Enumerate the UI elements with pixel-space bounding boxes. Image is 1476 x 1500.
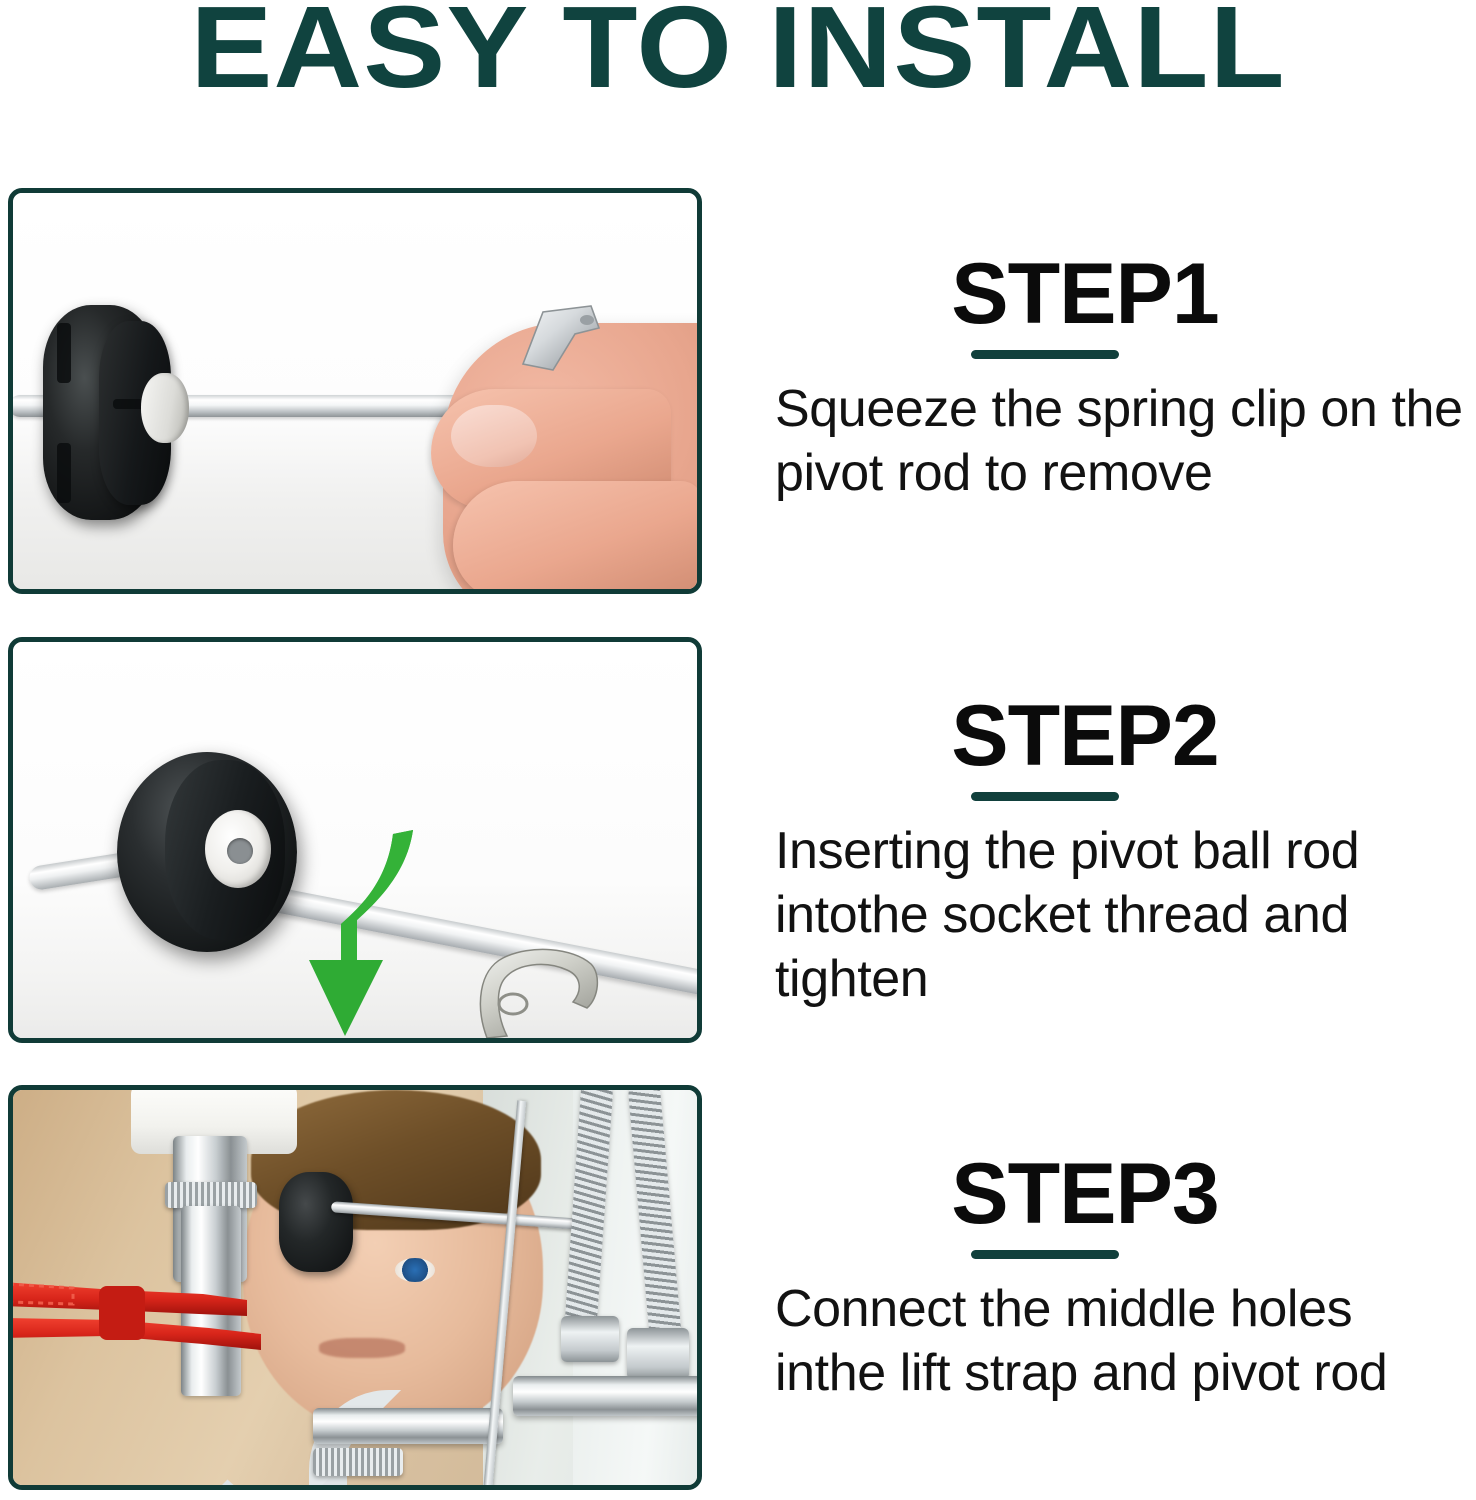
step-body-2: Inserting the pivot ball rod intothe soc… xyxy=(775,819,1475,1011)
step-image-panel-1 xyxy=(8,188,702,594)
step-text-block-3: STEP3 Connect the middle holes inthe lif… xyxy=(775,1148,1475,1405)
supply-valve-right xyxy=(627,1328,689,1380)
middle-finger xyxy=(453,481,702,594)
slip-nut-lower xyxy=(313,1448,403,1476)
step-image-panel-3 xyxy=(8,1085,702,1490)
nut-rib xyxy=(57,323,71,383)
step-heading-underline-2 xyxy=(971,792,1119,801)
step-body-3: Connect the middle holes inthe lift stra… xyxy=(775,1277,1475,1405)
slip-nut-upper xyxy=(165,1182,257,1208)
plumber-under-sink-photo xyxy=(13,1090,697,1485)
washer-hole xyxy=(227,838,253,864)
step-text-block-2: STEP2 Inserting the pivot ball rod intot… xyxy=(775,690,1475,1011)
fingernail xyxy=(451,405,537,467)
step-image-panel-2 xyxy=(8,637,702,1043)
black-pivot-nut xyxy=(279,1172,353,1272)
infographic-page: EASY TO INSTALL xyxy=(0,0,1476,1500)
step-text-block-1: STEP1 Squeeze the spring clip on the piv… xyxy=(775,248,1475,505)
pivot-rod-spring-clip-photo xyxy=(13,193,697,589)
page-title: EASY TO INSTALL xyxy=(0,0,1476,100)
nut-rib xyxy=(57,443,71,503)
metal-spring-clip xyxy=(469,942,605,1043)
plumber-mouth xyxy=(319,1338,405,1358)
green-down-arrow-icon xyxy=(275,828,415,1043)
metal-spring-clip xyxy=(513,298,609,380)
supply-pipe xyxy=(513,1376,702,1416)
pivot-ball-rod-socket-photo xyxy=(13,642,697,1038)
red-pliers xyxy=(8,1276,293,1358)
step-heading-3: STEP3 xyxy=(695,1148,1475,1240)
supply-valve-left xyxy=(561,1316,619,1362)
chrome-p-trap-arm xyxy=(313,1408,503,1444)
step-heading-underline-3 xyxy=(971,1250,1119,1259)
step-heading-2: STEP2 xyxy=(695,690,1475,782)
step-heading-underline-1 xyxy=(971,350,1119,359)
step-body-1: Squeeze the spring clip on the pivot rod… xyxy=(775,377,1475,505)
plumber-eye-right xyxy=(395,1258,435,1282)
step-heading-1: STEP1 xyxy=(695,248,1475,340)
white-pivot-ball-washer xyxy=(141,373,189,443)
